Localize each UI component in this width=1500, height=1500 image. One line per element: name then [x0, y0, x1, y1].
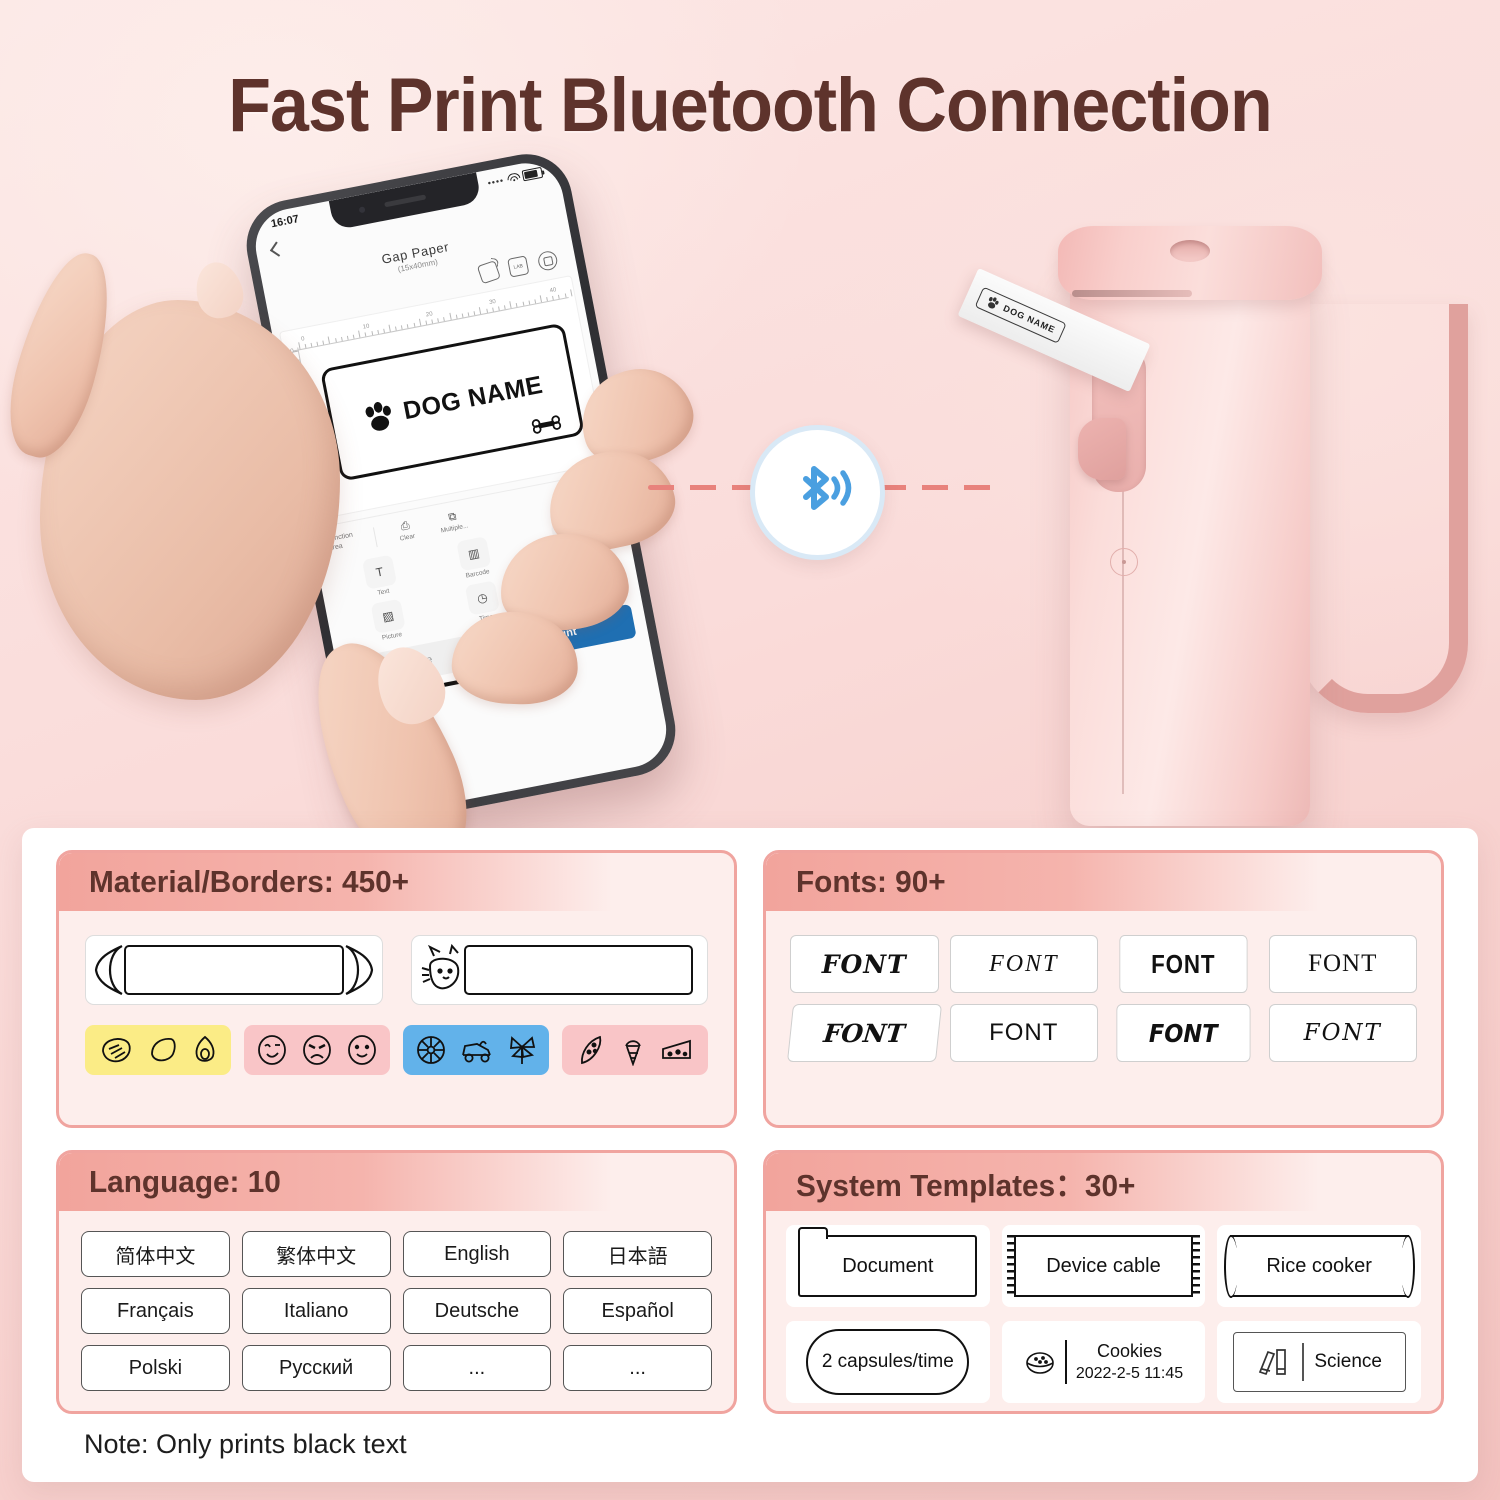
border-frame: [124, 945, 344, 995]
ruler-tick: [377, 330, 379, 334]
tape-label: DOG NAME: [975, 287, 1067, 344]
font-sample[interactable]: FONT: [950, 1004, 1099, 1062]
barcode-icon: ▥: [456, 536, 491, 571]
page-title: Fast Print Bluetooth Connection: [60, 62, 1440, 149]
template-rice-cooker[interactable]: Rice cooker: [1217, 1225, 1421, 1307]
ruler-tick: [552, 296, 554, 300]
ruler-tick: [335, 338, 337, 342]
ruler-tick: [365, 332, 367, 336]
picture-icon: ▨: [371, 599, 406, 634]
printer-top-hole: [1170, 240, 1210, 262]
ruler-tick: [306, 414, 310, 416]
ruler-tick: [317, 342, 319, 346]
phone-screen: 16:07 •••• Gap Paper (15x40mm) LAB: [249, 157, 672, 819]
ruler-tick: [522, 302, 524, 306]
pinwheel-icon: [507, 1034, 537, 1066]
ruler-tick: [498, 306, 500, 310]
font-samples: FONT FONT FONT FONT FONT FONT FONT FONT: [766, 911, 1441, 1062]
ruler-mark: 30: [489, 299, 497, 306]
feature-card: Material/Borders: 450+: [22, 828, 1478, 1482]
divider: [373, 527, 378, 547]
panel-title: Material/Borders: 450+: [89, 864, 409, 900]
font-sample[interactable]: FONT: [950, 935, 1099, 993]
wrapper-right-icon: [342, 944, 376, 996]
printer-top-cap: [1058, 226, 1322, 300]
paw-print-icon: [359, 396, 399, 436]
template-items: Document Device cable Rice cooker: [766, 1211, 1441, 1403]
books-icon: [1256, 1344, 1292, 1380]
ruler-tick: [324, 504, 328, 506]
feature-panels: Material/Borders: 450+: [56, 850, 1444, 1414]
ruler-tick: [437, 318, 439, 322]
font-sample[interactable]: FONT: [1269, 935, 1418, 993]
template-label: Science: [1233, 1332, 1406, 1392]
signal-dots-icon: ••••: [487, 175, 505, 188]
ruler-tick: [462, 313, 464, 317]
angry-face-icon: [302, 1034, 332, 1066]
font-sample[interactable]: FONT: [790, 935, 939, 993]
template-text: Device cable: [1046, 1255, 1161, 1278]
ruler-tick: [313, 450, 317, 452]
template-cookies[interactable]: Cookies 2022-2-5 11:45: [1002, 1321, 1206, 1403]
language-chip[interactable]: Deutsche: [403, 1288, 552, 1334]
wifi-icon: [507, 172, 520, 183]
ruler-mark: 10: [362, 324, 370, 331]
language-chip[interactable]: ...: [403, 1345, 552, 1391]
lemon-icon: [148, 1035, 178, 1065]
connection-dash-left: [648, 485, 752, 490]
swatch-faces[interactable]: [244, 1025, 390, 1075]
ruler-tick: [419, 319, 421, 326]
template-text: Science: [1314, 1351, 1382, 1373]
language-chip[interactable]: ...: [563, 1345, 712, 1391]
printer-tape-slot: [1072, 290, 1192, 297]
template-capsules[interactable]: 2 capsules/time: [786, 1321, 990, 1403]
wink-face-icon: [257, 1034, 287, 1066]
ruler-tick: [534, 299, 536, 303]
tool-label: Time: [479, 613, 494, 623]
tool-label: Text: [377, 588, 390, 597]
template-document[interactable]: Document: [786, 1225, 990, 1307]
frame-icon: ▢: [559, 562, 594, 597]
printer-cutter-knob[interactable]: [1078, 418, 1126, 480]
ruler-tick: [509, 301, 511, 308]
ruler-tick: [431, 319, 433, 323]
ruler-tick: [353, 335, 355, 339]
wrapper-left-icon: [92, 944, 126, 996]
label-text: DOG NAME: [401, 370, 545, 425]
ruler-tick: [504, 305, 506, 309]
label-preview[interactable]: DOG NAME: [320, 322, 585, 481]
template-label: Rice cooker: [1230, 1235, 1409, 1297]
label-size-icon[interactable]: LAB: [507, 255, 529, 277]
beach-ball-icon: [415, 1034, 447, 1066]
language-chip[interactable]: Italiano: [242, 1288, 391, 1334]
language-chip[interactable]: 繁体中文: [242, 1231, 391, 1277]
ruler-tick: [318, 477, 322, 479]
language-chip[interactable]: English: [403, 1231, 552, 1277]
pizza-icon: [576, 1034, 606, 1066]
ruler-mark: 40: [549, 287, 557, 294]
multiple-action[interactable]: ⧉ Multiple...: [435, 509, 472, 535]
ruler-tick: [407, 324, 409, 328]
bone-icon: [530, 414, 563, 435]
status-indicators: ••••: [487, 167, 544, 188]
font-sample[interactable]: FONT: [1116, 1004, 1250, 1062]
language-chip[interactable]: Русский: [242, 1345, 391, 1391]
ice-cream-icon: [621, 1034, 645, 1066]
cheese-icon: [660, 1036, 694, 1064]
printer-strap: [1298, 304, 1468, 713]
clear-icon: ⎙: [400, 521, 411, 533]
swatch-snacks[interactable]: [562, 1025, 708, 1075]
ruler-tick: [308, 441, 315, 443]
clear-action[interactable]: ⎙ Clear: [388, 518, 425, 544]
tool-label: Picture: [381, 631, 402, 642]
ruler-tick: [347, 336, 349, 340]
ruler-tick: [456, 315, 458, 319]
cat-icon: [420, 944, 466, 996]
panel-title: Fonts: 90+: [796, 864, 946, 900]
tape-text: DOG NAME: [1002, 303, 1057, 335]
ruler-tick: [358, 331, 360, 338]
swatch-toys[interactable]: [403, 1025, 549, 1075]
ruler-tick: [528, 301, 530, 305]
toy-car-icon: [460, 1035, 494, 1065]
ruler-tick: [486, 309, 488, 313]
ruler-tick: [304, 405, 308, 407]
panel-header: System Templates：30+: [766, 1153, 1441, 1211]
language-chip[interactable]: Polski: [81, 1345, 230, 1391]
ruler-tick: [383, 329, 385, 333]
border-frame: [464, 945, 694, 995]
ruler-tick: [564, 294, 566, 298]
bluetooth-icon: [780, 455, 856, 531]
battery-icon: [522, 167, 544, 182]
ruler-tick: [317, 486, 324, 488]
panel-title: Language: 10: [89, 1164, 281, 1200]
ruler-tick: [322, 495, 326, 497]
cat-border[interactable]: [411, 935, 709, 1005]
footer-note: Note: Only prints black text: [84, 1429, 407, 1460]
ruler-tick: [317, 468, 321, 470]
power-button-icon[interactable]: [1110, 548, 1138, 576]
template-text: Rice cooker: [1266, 1255, 1372, 1278]
ruler-tick: [558, 295, 560, 299]
font-sample[interactable]: FONT: [1119, 935, 1247, 993]
status-time: 16:07: [270, 213, 300, 230]
ruler-tick: [310, 432, 314, 434]
smartphone-mockup: 16:07 •••• Gap Paper (15x40mm) LAB: [239, 146, 684, 829]
cookie-icon: [1024, 1346, 1056, 1378]
ruler-tick: [389, 325, 391, 332]
text-icon: T: [362, 555, 397, 590]
settings-gear-icon[interactable]: [537, 250, 559, 272]
template-science[interactable]: Science: [1217, 1321, 1421, 1403]
ruler-tick: [449, 313, 451, 320]
template-device-cable[interactable]: Device cable: [1002, 1225, 1206, 1307]
smile-face-icon: [347, 1034, 377, 1066]
material-content: [59, 911, 734, 1075]
zigzag-edge-icon: [1191, 1235, 1200, 1297]
ruler-tick: [300, 396, 307, 398]
ruler-tick: [395, 326, 397, 330]
connection-dash-right: [880, 485, 992, 490]
wavy-edge-icon: [1401, 1235, 1415, 1298]
panel-system-templates: System Templates：30+ Document Device cab…: [763, 1150, 1444, 1414]
panel-language: Language: 10 简体中文 繁体中文 English 日本語 Franç…: [56, 1150, 737, 1414]
template-title: Cookies: [1097, 1341, 1162, 1362]
ruler-tick: [479, 307, 481, 314]
avocado-icon: [193, 1035, 217, 1065]
ruler-tick: [468, 312, 470, 316]
panel-header: Material/Borders: 450+: [59, 853, 734, 911]
ruler-tick: [413, 323, 415, 327]
ruler-tick: [301, 387, 305, 389]
ruler-tick: [401, 325, 403, 329]
language-chip[interactable]: 日本語: [563, 1231, 712, 1277]
ruler-tick: [492, 308, 494, 312]
qrcode-icon: ▣: [550, 518, 585, 553]
clear-label: Clear: [399, 533, 416, 543]
language-chip[interactable]: 简体中文: [81, 1231, 230, 1277]
ruler-tick: [546, 297, 548, 301]
multiple-select-icon: ⧉: [448, 512, 458, 524]
ruler-mark: 0: [301, 336, 305, 343]
divider: [1302, 1343, 1304, 1381]
ruler-tick: [299, 378, 303, 380]
panel-material-borders: Material/Borders: 450+: [56, 850, 737, 1128]
template-timestamp: 2022-2-5 11:45: [1076, 1365, 1183, 1383]
tool-label: Frame: [571, 595, 591, 605]
function-area-label: Function Area: [326, 530, 363, 554]
panel-header: Language: 10: [59, 1153, 734, 1211]
ruler-tick: [371, 331, 373, 335]
ruler-tick: [474, 311, 476, 315]
ruler-tick: [328, 336, 330, 343]
border-samples: [85, 935, 708, 1005]
panel-title: System Templates：30+: [796, 1160, 1135, 1205]
font-sample[interactable]: FONT: [787, 1004, 942, 1062]
ruler-mark: 20: [426, 311, 434, 318]
divider: [1065, 1340, 1067, 1384]
ruler-tick: [291, 351, 298, 353]
time-icon: ◷: [465, 580, 500, 615]
ruler-tick: [444, 317, 446, 321]
chevron-left-icon[interactable]: [270, 241, 285, 256]
template-label: Document: [798, 1235, 977, 1297]
template-label: Cookies 2022-2-5 11:45: [1016, 1333, 1191, 1391]
font-sample[interactable]: FONT: [1269, 1004, 1418, 1062]
paw-print-icon: [984, 294, 1002, 312]
ruler-tick: [516, 303, 518, 307]
panel-fonts: Fonts: 90+ FONT FONT FONT FONT FONT FONT…: [763, 850, 1444, 1128]
steak-icon: [99, 1035, 133, 1065]
language-chip[interactable]: Español: [563, 1288, 712, 1334]
ruler-tick: [570, 289, 572, 296]
language-chips: 简体中文 繁体中文 English 日本語 Français Italiano …: [59, 1211, 734, 1391]
template-text-block: Cookies 2022-2-5 11:45: [1076, 1341, 1183, 1383]
ruler-tick: [323, 341, 325, 345]
signal-waves-icon: [834, 473, 849, 503]
swatch-food[interactable]: [85, 1025, 231, 1075]
ruler-tick: [425, 321, 427, 325]
ruler-tick: [297, 369, 301, 371]
sticker-swatches: [85, 1025, 708, 1075]
ruler-tick: [310, 343, 312, 347]
bluetooth-badge: [750, 425, 885, 560]
ruler-tick: [296, 360, 300, 362]
poster-stage: Fast Print Bluetooth Connection 16:07 ••…: [0, 0, 1500, 1500]
template-label: 2 capsules/time: [806, 1329, 969, 1395]
ruler-tick: [304, 344, 306, 348]
template-label: Device cable: [1014, 1235, 1193, 1297]
wavy-edge-icon: [1224, 1235, 1238, 1298]
ruler-tick: [540, 295, 542, 302]
zigzag-edge-icon: [1007, 1235, 1016, 1297]
rotate-icon[interactable]: [477, 260, 501, 284]
ruler-tick: [341, 337, 343, 341]
ruler-tick: [308, 423, 312, 425]
candy-wrapper-border[interactable]: [85, 935, 383, 1005]
language-chip[interactable]: Français: [81, 1288, 230, 1334]
ruler-tick: [315, 459, 319, 461]
panel-header: Fonts: 90+: [766, 853, 1441, 911]
multiple-label: Multiple...: [440, 522, 469, 534]
